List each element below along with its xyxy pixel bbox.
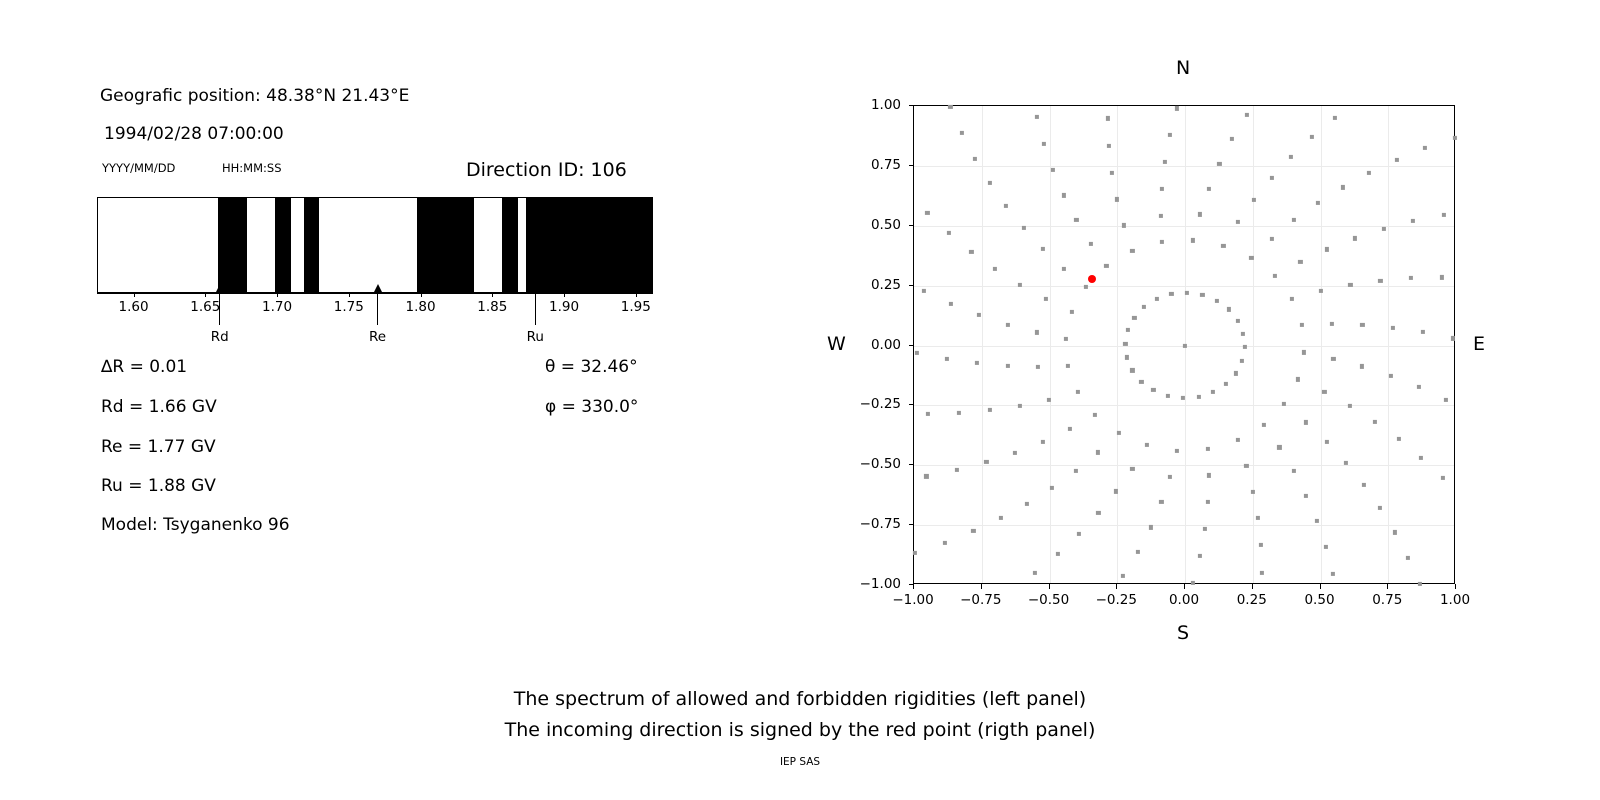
- x-axis-tick: [1184, 584, 1185, 589]
- axis-tick: [564, 293, 565, 297]
- direction-point: [1096, 450, 1100, 454]
- axis-tick-label: 1.60: [119, 299, 149, 315]
- x-axis-tick-label: −1.00: [892, 592, 933, 608]
- x-axis-tick-label: 0.00: [1169, 592, 1199, 608]
- y-axis-tick: [909, 464, 914, 465]
- direction-point: [1041, 247, 1045, 251]
- direction-point: [1181, 396, 1185, 400]
- y-axis-tick-label: 0.75: [845, 157, 901, 173]
- direction-point: [1191, 580, 1195, 584]
- direction-point: [1418, 582, 1422, 586]
- gridline-vertical: [1253, 106, 1254, 583]
- direction-point: [1316, 201, 1320, 205]
- marker-arrow-re: [377, 291, 378, 325]
- direction-point: [1175, 449, 1179, 453]
- direction-point: [1214, 299, 1218, 303]
- direction-point: [1289, 155, 1293, 159]
- direction-point: [1322, 390, 1326, 394]
- x-axis-tick-label: −0.75: [960, 592, 1001, 608]
- direction-point: [1122, 223, 1126, 227]
- direction-point: [1226, 307, 1230, 311]
- x-axis-tick-label: 1.00: [1440, 592, 1470, 608]
- direction-point: [999, 516, 1003, 520]
- direction-point: [1304, 494, 1308, 498]
- direction-point: [1360, 364, 1364, 368]
- direction-point: [1139, 379, 1143, 383]
- direction-point: [1169, 292, 1173, 296]
- direction-point: [1373, 420, 1377, 424]
- direction-point: [1260, 571, 1264, 575]
- direction-point: [1273, 274, 1277, 278]
- direction-point: [1136, 550, 1140, 554]
- direction-point: [1444, 398, 1448, 402]
- direction-point: [1252, 197, 1256, 201]
- rigidity-axis: 1.601.651.701.751.801.851.901.95RdReRu: [97, 293, 653, 363]
- direction-point: [1159, 213, 1163, 217]
- direction-point: [1211, 390, 1215, 394]
- axis-tick-label: 1.80: [406, 299, 436, 315]
- direction-point: [1292, 218, 1296, 222]
- gridline-horizontal: [914, 226, 1454, 227]
- direction-point: [1160, 240, 1164, 244]
- direction-point: [971, 529, 975, 533]
- direction-point: [1062, 193, 1066, 197]
- direction-point: [1325, 247, 1329, 251]
- direction-point: [1198, 212, 1202, 216]
- direction-point: [1341, 185, 1345, 189]
- direction-point: [1397, 437, 1401, 441]
- direction-point: [1050, 486, 1054, 490]
- y-axis-tick-label: −0.50: [845, 456, 901, 472]
- direction-point: [1451, 336, 1455, 340]
- direction-point: [1331, 572, 1335, 576]
- direction-point: [988, 181, 992, 185]
- x-axis-tick: [1049, 584, 1050, 589]
- direction-point: [975, 361, 979, 365]
- direction-point: [1114, 489, 1118, 493]
- direction-point: [1261, 423, 1265, 427]
- direction-point: [987, 408, 991, 412]
- direction-point: [1330, 322, 1334, 326]
- direction-map-panel: N S E W −1.00−0.75−0.50−0.250.000.250.50…: [760, 0, 1600, 800]
- marker-arrowhead-ru: [531, 284, 539, 292]
- direction-point: [1056, 552, 1060, 556]
- direction-point: [1207, 187, 1211, 191]
- direction-point: [1183, 343, 1187, 347]
- forbidden-band: [275, 198, 291, 292]
- direction-point: [1076, 390, 1080, 394]
- rigidity-spectrum-panel: Geografic position: 48.38°N 21.43°E 1994…: [0, 0, 760, 800]
- direction-point: [1324, 545, 1328, 549]
- param-delta-r: ∆R = 0.01: [101, 357, 187, 377]
- gridline-vertical: [1117, 106, 1118, 583]
- direction-point: [1051, 168, 1055, 172]
- direction-point: [1006, 364, 1010, 368]
- y-axis-tick: [909, 404, 914, 405]
- direction-point: [1249, 256, 1253, 260]
- direction-point: [957, 411, 961, 415]
- direction-point: [1315, 519, 1319, 523]
- direction-point: [1104, 264, 1108, 268]
- direction-point: [1348, 404, 1352, 408]
- direction-point: [926, 412, 930, 416]
- direction-point: [1093, 413, 1097, 417]
- direction-point: [1062, 267, 1066, 271]
- direction-point: [1077, 532, 1081, 536]
- direction-point: [1117, 431, 1121, 435]
- direction-point: [1036, 365, 1040, 369]
- compass-label-east: E: [1473, 333, 1485, 355]
- direction-point: [1096, 511, 1100, 515]
- direction-point: [1041, 439, 1045, 443]
- axis-tick-label: 1.90: [549, 299, 579, 315]
- direction-point: [1142, 305, 1146, 309]
- direction-point: [1068, 427, 1072, 431]
- direction-point: [960, 131, 964, 135]
- direction-point: [1004, 204, 1008, 208]
- direction-point: [925, 211, 929, 215]
- direction-point: [1442, 212, 1446, 216]
- axis-tick-label: 1.85: [477, 299, 507, 315]
- direction-point: [1378, 279, 1382, 283]
- direction-point: [922, 289, 926, 293]
- datetime-label: 1994/02/28 07:00:00: [104, 124, 284, 144]
- direction-point: [1292, 469, 1296, 473]
- direction-point: [943, 541, 947, 545]
- direction-point: [1241, 331, 1245, 335]
- direction-point: [1304, 420, 1308, 424]
- direction-point: [1235, 319, 1239, 323]
- direction-point: [1025, 501, 1029, 505]
- direction-point: [947, 231, 951, 235]
- direction-point: [1224, 382, 1228, 386]
- direction-point: [1256, 516, 1260, 520]
- direction-point: [1319, 289, 1323, 293]
- x-axis-tick-label: 0.75: [1372, 592, 1402, 608]
- direction-point: [1035, 115, 1039, 119]
- gridline-vertical: [982, 106, 983, 583]
- forbidden-band: [526, 198, 653, 292]
- direction-point: [1013, 450, 1017, 454]
- direction-point: [1290, 297, 1294, 301]
- y-axis-tick: [909, 165, 914, 166]
- direction-point: [1175, 106, 1179, 110]
- axis-tick-label: 1.95: [621, 299, 651, 315]
- direction-point: [1110, 171, 1114, 175]
- direction-point: [1394, 158, 1398, 162]
- direction-id-label: Direction ID: 106: [466, 159, 627, 181]
- direction-point: [1300, 323, 1304, 327]
- direction-point: [1417, 385, 1421, 389]
- x-axis-tick-label: −0.50: [1028, 592, 1069, 608]
- direction-point: [1234, 371, 1238, 375]
- direction-point: [1123, 342, 1127, 346]
- x-axis-tick: [981, 584, 982, 589]
- selected-direction-point: [1088, 275, 1096, 283]
- direction-point: [1022, 226, 1026, 230]
- param-re: Re = 1.77 GV: [101, 437, 216, 457]
- compass-label-west: W: [827, 333, 846, 355]
- direction-point: [1191, 238, 1195, 242]
- direction-point: [1107, 144, 1111, 148]
- geographic-position-label: Geografic position: 48.38°N 21.43°E: [100, 86, 409, 106]
- forbidden-band: [502, 198, 518, 292]
- y-axis-tick-label: −0.75: [845, 516, 901, 532]
- direction-point: [1333, 116, 1337, 120]
- direction-point: [1302, 350, 1306, 354]
- direction-point: [1393, 530, 1397, 534]
- direction-point: [1168, 133, 1172, 137]
- direction-point: [969, 250, 973, 254]
- direction-point: [1240, 359, 1244, 363]
- direction-point: [1066, 364, 1070, 368]
- direction-point: [1325, 440, 1329, 444]
- direction-point: [1269, 176, 1273, 180]
- marker-label-ru: Ru: [527, 329, 544, 345]
- y-axis-tick-label: −0.25: [845, 396, 901, 412]
- direction-point: [1406, 556, 1410, 560]
- axis-tick-label: 1.65: [190, 299, 220, 315]
- gridline-vertical: [1321, 106, 1322, 583]
- direction-point: [1084, 285, 1088, 289]
- direction-point: [1453, 136, 1457, 140]
- caption-line-1: The spectrum of allowed and forbidden ri…: [0, 688, 1600, 710]
- forbidden-band: [417, 198, 475, 292]
- direction-point: [1259, 543, 1263, 547]
- credit-label: IEP SAS: [0, 756, 1600, 768]
- axis-tick-label: 1.70: [262, 299, 292, 315]
- gridline-vertical: [1388, 106, 1389, 583]
- direction-point: [1144, 443, 1148, 447]
- y-axis-tick-label: 0.50: [845, 217, 901, 233]
- direction-scatter-plot: [913, 105, 1455, 584]
- direction-point: [1353, 236, 1357, 240]
- marker-label-rd: Rd: [211, 329, 229, 345]
- y-axis-tick: [909, 225, 914, 226]
- direction-point: [945, 357, 949, 361]
- direction-point: [1282, 402, 1286, 406]
- direction-point: [1148, 525, 1152, 529]
- direction-point: [1421, 330, 1425, 334]
- axis-tick: [636, 293, 637, 297]
- direction-point: [1378, 506, 1382, 510]
- param-model: Model: Tsyganenko 96: [101, 515, 290, 535]
- gridline-horizontal: [914, 465, 1454, 466]
- y-axis-tick: [909, 524, 914, 525]
- x-axis-tick: [1116, 584, 1117, 589]
- direction-point: [1242, 345, 1246, 349]
- y-axis-tick: [909, 345, 914, 346]
- forbidden-band: [218, 198, 247, 292]
- direction-point: [993, 267, 997, 271]
- param-phi: φ = 330.0°: [545, 397, 638, 417]
- direction-point: [1155, 297, 1159, 301]
- y-axis-tick-label: 0.00: [845, 337, 901, 353]
- direction-point: [1006, 323, 1010, 327]
- x-axis-tick-label: 0.25: [1237, 592, 1267, 608]
- direction-point: [1221, 244, 1225, 248]
- axis-tick: [421, 293, 422, 297]
- gridline-horizontal: [914, 166, 1454, 167]
- marker-arrowhead-rd: [216, 284, 224, 292]
- x-axis-tick: [1252, 584, 1253, 589]
- compass-label-south: S: [1177, 622, 1189, 644]
- direction-point: [977, 313, 981, 317]
- direction-point: [1115, 197, 1119, 201]
- direction-point: [1344, 461, 1348, 465]
- gridline-horizontal: [914, 525, 1454, 526]
- direction-point: [1070, 309, 1074, 313]
- direction-point: [1196, 395, 1200, 399]
- y-axis-tick: [909, 285, 914, 286]
- direction-point: [1074, 469, 1078, 473]
- direction-point: [1018, 404, 1022, 408]
- direction-point: [1121, 574, 1125, 578]
- direction-point: [1185, 291, 1189, 295]
- direction-point: [1367, 171, 1371, 175]
- direction-point: [1163, 160, 1167, 164]
- x-axis-tick: [1455, 584, 1456, 589]
- direction-point: [913, 551, 917, 555]
- direction-point: [1200, 293, 1204, 297]
- axis-tick: [205, 293, 206, 297]
- forbidden-band: [304, 198, 319, 292]
- direction-point: [1298, 260, 1302, 264]
- direction-point: [1423, 146, 1427, 150]
- date-format-hint: YYYY/MM/DD: [102, 161, 175, 175]
- direction-point: [1074, 218, 1078, 222]
- marker-arrowhead-re: [374, 284, 382, 292]
- caption-line-2: The incoming direction is signed by the …: [0, 719, 1600, 741]
- rigidity-spectrum-bar: [97, 197, 653, 293]
- direction-point: [1047, 398, 1051, 402]
- direction-point: [1419, 456, 1423, 460]
- x-axis-tick: [1387, 584, 1388, 589]
- axis-line: [97, 293, 653, 294]
- direction-point: [1236, 438, 1240, 442]
- direction-point: [1132, 316, 1136, 320]
- marker-label-re: Re: [369, 329, 386, 345]
- direction-point: [1126, 328, 1130, 332]
- param-rd: Rd = 1.66 GV: [101, 397, 217, 417]
- direction-point: [1160, 187, 1164, 191]
- direction-point: [1207, 473, 1211, 477]
- direction-point: [1310, 135, 1314, 139]
- direction-point: [1203, 527, 1207, 531]
- direction-point: [1360, 323, 1364, 327]
- direction-point: [1089, 241, 1093, 245]
- direction-point: [1245, 113, 1249, 117]
- marker-arrow-rd: [219, 291, 220, 325]
- direction-point: [1331, 356, 1335, 360]
- param-theta: θ = 32.46°: [545, 357, 638, 377]
- direction-point: [915, 350, 919, 354]
- direction-point: [948, 105, 952, 109]
- direction-point: [1277, 445, 1281, 449]
- compass-label-north: N: [1176, 57, 1190, 79]
- direction-point: [1035, 330, 1039, 334]
- direction-point: [1236, 220, 1240, 224]
- gridline-vertical: [1050, 106, 1051, 583]
- direction-point: [924, 474, 928, 478]
- direction-point: [1391, 326, 1395, 330]
- direction-point: [949, 302, 953, 306]
- axis-tick: [349, 293, 350, 297]
- axis-tick-label: 1.75: [334, 299, 364, 315]
- direction-point: [973, 156, 977, 160]
- direction-point: [1411, 219, 1415, 223]
- direction-point: [1168, 474, 1172, 478]
- y-axis-tick: [909, 105, 914, 106]
- axis-tick: [134, 293, 135, 297]
- gridline-horizontal: [914, 286, 1454, 287]
- direction-point: [1440, 275, 1444, 279]
- direction-point: [984, 460, 988, 464]
- direction-point: [1130, 249, 1134, 253]
- gridline-horizontal: [914, 405, 1454, 406]
- marker-arrow-ru: [535, 291, 536, 325]
- y-axis-tick-label: 0.25: [845, 277, 901, 293]
- direction-point: [1441, 476, 1445, 480]
- time-format-hint: HH:MM:SS: [222, 161, 282, 175]
- direction-point: [955, 468, 959, 472]
- direction-point: [1348, 283, 1352, 287]
- direction-point: [1206, 447, 1210, 451]
- y-axis-tick-label: −1.00: [845, 576, 901, 592]
- direction-point: [1033, 571, 1037, 575]
- direction-point: [1166, 394, 1170, 398]
- direction-point: [1151, 388, 1155, 392]
- direction-point: [1159, 500, 1163, 504]
- direction-point: [1409, 276, 1413, 280]
- direction-point: [1389, 374, 1393, 378]
- direction-point: [1244, 463, 1248, 467]
- x-axis-tick-label: 0.50: [1304, 592, 1334, 608]
- direction-point: [1043, 297, 1047, 301]
- direction-point: [1230, 137, 1234, 141]
- direction-point: [1217, 162, 1221, 166]
- direction-point: [1130, 368, 1134, 372]
- axis-tick: [277, 293, 278, 297]
- param-ru: Ru = 1.88 GV: [101, 476, 216, 496]
- direction-point: [1130, 467, 1134, 471]
- direction-point: [1106, 116, 1110, 120]
- x-axis-tick: [1320, 584, 1321, 589]
- direction-point: [1064, 336, 1068, 340]
- direction-point: [1018, 283, 1022, 287]
- direction-point: [1362, 483, 1366, 487]
- x-axis-tick: [913, 584, 914, 589]
- axis-tick: [492, 293, 493, 297]
- direction-point: [1296, 377, 1300, 381]
- direction-point: [1125, 355, 1129, 359]
- direction-point: [1042, 142, 1046, 146]
- x-axis-tick-label: −0.25: [1096, 592, 1137, 608]
- direction-point: [1270, 236, 1274, 240]
- direction-point: [1251, 490, 1255, 494]
- direction-point: [1198, 554, 1202, 558]
- y-axis-tick-label: 1.00: [845, 97, 901, 113]
- direction-point: [1206, 500, 1210, 504]
- direction-point: [1382, 227, 1386, 231]
